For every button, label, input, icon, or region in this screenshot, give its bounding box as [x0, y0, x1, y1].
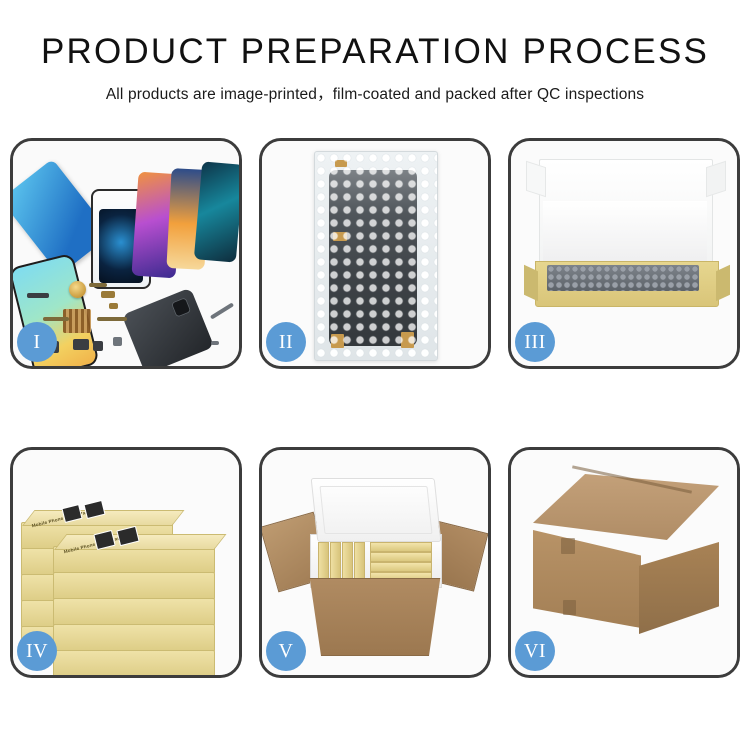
- inner-box: [354, 542, 365, 582]
- chip-array-part: [63, 309, 91, 333]
- page-subtitle: All products are image-printed，film-coat…: [0, 82, 750, 104]
- step-badge-5: V: [266, 631, 306, 671]
- inner-box: [342, 542, 353, 582]
- carton-body: [304, 578, 446, 656]
- tweezers-tool: [210, 302, 234, 319]
- step-badge-1: I: [17, 322, 57, 362]
- small-part: [73, 339, 89, 350]
- step-panel-1[interactable]: I: [10, 138, 242, 369]
- copper-coil-part: [69, 281, 86, 298]
- carton-tab: [561, 538, 575, 554]
- step-panel-4[interactable]: Mobile Phone Spare Parts Mobile Phone Sp…: [10, 447, 242, 678]
- carton-tab: [563, 600, 576, 615]
- inner-box: [370, 552, 432, 562]
- small-part: [101, 291, 115, 298]
- inner-box: [330, 542, 341, 582]
- step-badge-6: VI: [515, 631, 555, 671]
- flex-cable: [89, 283, 107, 287]
- screw-part: [211, 341, 219, 345]
- phone-back-housing: [122, 287, 215, 366]
- step-badge-4: IV: [17, 631, 57, 671]
- carton-front-face: [533, 530, 641, 628]
- step-badge-3: III: [515, 322, 555, 362]
- carton-side-face: [639, 542, 719, 634]
- small-part: [109, 303, 118, 309]
- small-part: [93, 341, 103, 351]
- inner-box: [318, 542, 329, 582]
- small-part: [113, 337, 122, 346]
- product-preparation-page: PRODUCT PREPARATION PROCESS All products…: [0, 0, 750, 750]
- phone-teal: [194, 161, 239, 262]
- process-steps-grid: I II III: [10, 138, 740, 678]
- bubble-texture: [315, 152, 437, 360]
- inner-boxes-stack: [318, 542, 432, 582]
- step-panel-5[interactable]: V: [259, 447, 491, 678]
- flex-cable: [97, 317, 127, 321]
- step-panel-6[interactable]: VI: [508, 447, 740, 678]
- bubble-wrap-bag: [314, 151, 438, 361]
- foam-lid: [311, 478, 442, 542]
- page-header: PRODUCT PREPARATION PROCESS All products…: [0, 0, 750, 104]
- flex-cable: [43, 317, 69, 321]
- step-panel-2[interactable]: II: [259, 138, 491, 369]
- inner-box: [370, 562, 432, 572]
- step-panel-3[interactable]: III: [508, 138, 740, 369]
- carton-top-face: [533, 474, 719, 540]
- small-part: [27, 293, 49, 298]
- stacked-box: [53, 598, 215, 626]
- bubble-wrapped-contents: [547, 265, 699, 291]
- stacked-box: [53, 650, 215, 675]
- inner-box: [370, 542, 432, 552]
- step-badge-2: II: [266, 322, 306, 362]
- page-title: PRODUCT PREPARATION PROCESS: [0, 34, 750, 69]
- stacked-box: [53, 624, 215, 652]
- stacked-box: [53, 572, 215, 600]
- box-stack: Mobile Phone Spare Parts Mobile Phone Sp…: [19, 474, 235, 654]
